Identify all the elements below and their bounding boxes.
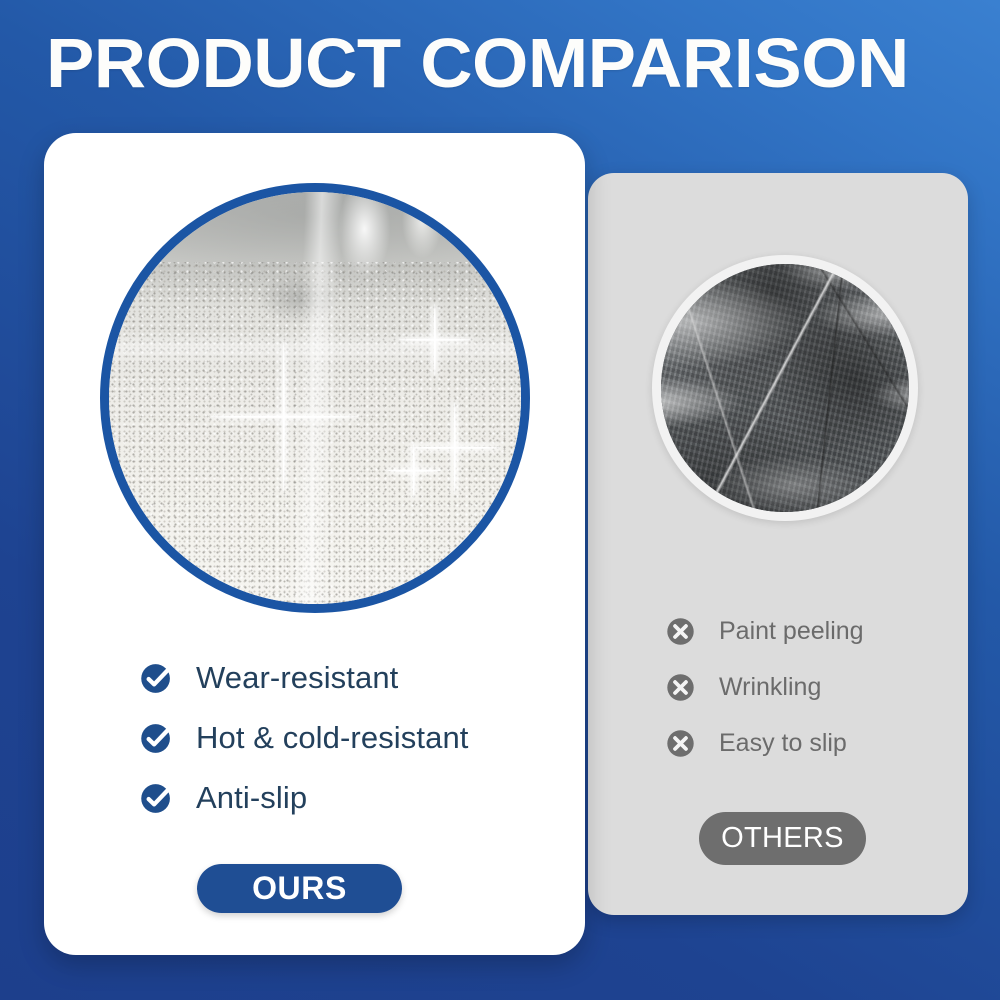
ours-comparison-card: Wear-resistant Hot & cold-resistant Anti… <box>44 133 585 955</box>
others-photo-ring <box>652 255 918 521</box>
list-item-label: Anti-slip <box>196 781 307 815</box>
list-item: Anti-slip <box>138 768 558 828</box>
list-item-label: Paint peeling <box>719 617 864 645</box>
list-item: Easy to slip <box>664 715 964 771</box>
check-circle-icon <box>138 660 175 697</box>
others-floor-image <box>661 264 909 512</box>
others-badge: OTHERS <box>699 812 866 865</box>
ours-floor-gloss-reflection <box>109 192 521 604</box>
list-item-label: Hot & cold-resistant <box>196 721 469 755</box>
list-item: Hot & cold-resistant <box>138 708 558 768</box>
list-item: Wrinkling <box>664 659 964 715</box>
check-circle-icon <box>138 780 175 817</box>
ours-badge: OURS <box>197 864 402 913</box>
list-item-label: Wrinkling <box>719 673 821 701</box>
cross-circle-icon <box>664 727 697 760</box>
list-item-label: Wear-resistant <box>196 661 398 695</box>
others-comparison-card: Paint peeling Wrinkling Easy to slip OTH… <box>588 173 968 915</box>
list-item-label: Easy to slip <box>719 729 847 757</box>
check-circle-icon <box>138 720 175 757</box>
ours-feature-list: Wear-resistant Hot & cold-resistant Anti… <box>138 648 558 828</box>
list-item: Wear-resistant <box>138 648 558 708</box>
page-title: PRODUCT COMPARISON <box>46 24 988 102</box>
others-floor-cracks <box>661 264 909 512</box>
others-drawback-list: Paint peeling Wrinkling Easy to slip <box>664 603 964 771</box>
list-item: Paint peeling <box>664 603 964 659</box>
cross-circle-icon <box>664 671 697 704</box>
ours-floor-image <box>100 183 530 613</box>
cross-circle-icon <box>664 615 697 648</box>
